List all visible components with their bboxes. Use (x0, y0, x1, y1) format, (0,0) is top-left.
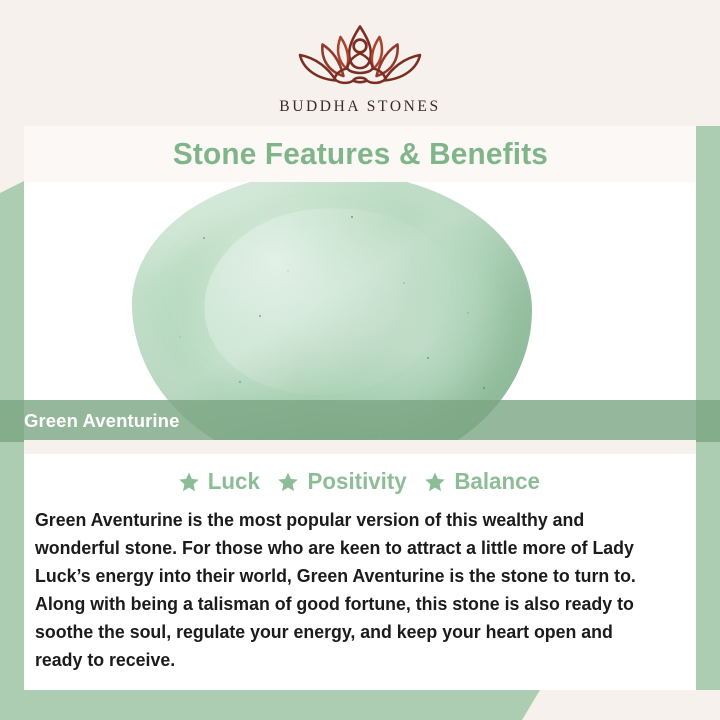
band-separator (24, 440, 696, 454)
benefit-label: Positivity (308, 468, 407, 495)
benefit-label: Luck (208, 468, 260, 495)
brand-name: BUDDHA STONES (279, 98, 440, 116)
page-title: Stone Features & Benefits (172, 136, 547, 172)
brand-header: BUDDHA STONES (0, 0, 720, 126)
stone-info-panel: Luck Positivity Balance Green Aventurine… (24, 454, 696, 690)
benefit-item-luck: Luck (178, 468, 261, 495)
benefit-label: Balance (455, 468, 541, 495)
infographic-page: BUDDHA STONES Stone Features & Benefits … (0, 0, 720, 720)
star-icon (277, 471, 299, 493)
benefit-item-balance: Balance (424, 468, 541, 495)
stone-name-band: Green Aventurine (0, 400, 720, 442)
stone-name: Green Aventurine (24, 410, 179, 432)
benefit-item-positivity: Positivity (277, 468, 408, 495)
benefits-list: Luck Positivity Balance (24, 468, 696, 495)
star-icon (424, 471, 446, 493)
lotus-meditation-icon (276, 22, 444, 94)
frame-left-accent (0, 181, 24, 720)
frame-bottom-accent (0, 690, 540, 720)
brand-logo: BUDDHA STONES (0, 22, 720, 116)
star-icon (178, 471, 200, 493)
section-title-band: Stone Features & Benefits (24, 126, 696, 182)
stone-description: Green Aventurine is the most popular ver… (35, 506, 656, 674)
